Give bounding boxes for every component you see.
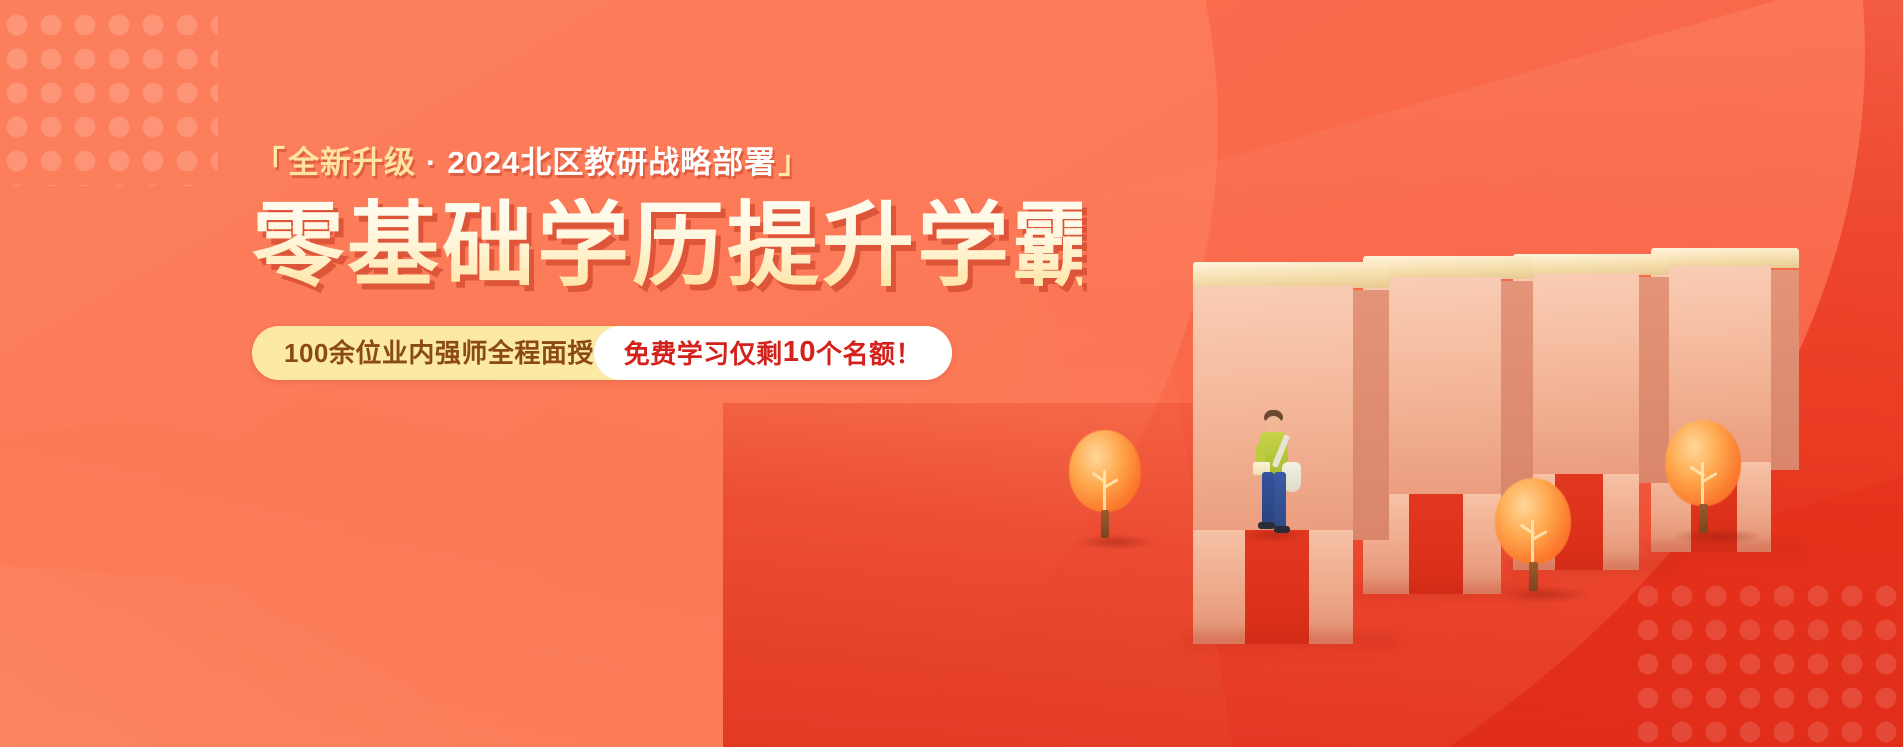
student-figure xyxy=(1248,410,1308,540)
eyebrow-rest: 2024北区教研战略部署 xyxy=(447,147,776,178)
tree-right xyxy=(1665,420,1757,546)
tree-trunk-icon xyxy=(1699,504,1708,533)
illustration xyxy=(1043,0,1903,747)
bracket-open-icon: 「 xyxy=(254,147,286,178)
bracket-close-icon: 」 xyxy=(778,147,810,178)
eyebrow-highlight: 全新升级 xyxy=(288,147,416,178)
dot-grid-top-left-icon xyxy=(0,8,218,186)
tree-trunk-icon xyxy=(1529,562,1538,591)
person-leg-back-icon xyxy=(1274,472,1286,528)
tree-shadow xyxy=(1673,528,1761,545)
eyebrow-separator-icon: · xyxy=(426,147,437,178)
tree-shadow xyxy=(1075,534,1157,550)
pill-free-number: 10 xyxy=(783,336,816,369)
person-shoe-back-icon xyxy=(1274,526,1290,533)
banner-pill-group: 100余位业内强师全程面授 免费学习仅剩10个名额！ xyxy=(252,326,952,380)
tree-left xyxy=(1069,430,1157,550)
pill-free-suffix: 个名额！ xyxy=(816,334,922,371)
banner-headline: 零基础学历提升学霸班 xyxy=(252,198,1082,296)
pill-instructors-label: 100余位业内强师全程面授 xyxy=(252,326,594,380)
person-shoe-front-icon xyxy=(1258,522,1275,529)
tree-mid xyxy=(1495,478,1587,604)
pill-free-prefix: 免费学习仅剩 xyxy=(624,334,783,371)
banner-copy: 「 全新升级 · 2024北区教研战略部署 」 零基础学历提升学霸班 100余位… xyxy=(252,140,1082,380)
pill-free-slots[interactable]: 免费学习仅剩10个名额！ xyxy=(594,326,952,380)
tree-trunk-icon xyxy=(1101,510,1109,538)
person-leg-front-icon xyxy=(1262,472,1274,524)
promo-banner: 「 全新升级 · 2024北区教研战略部署 」 零基础学历提升学霸班 100余位… xyxy=(0,0,1903,747)
tree-shadow xyxy=(1503,586,1591,603)
banner-eyebrow: 「 全新升级 · 2024北区教研战略部署 」 xyxy=(252,140,1082,184)
